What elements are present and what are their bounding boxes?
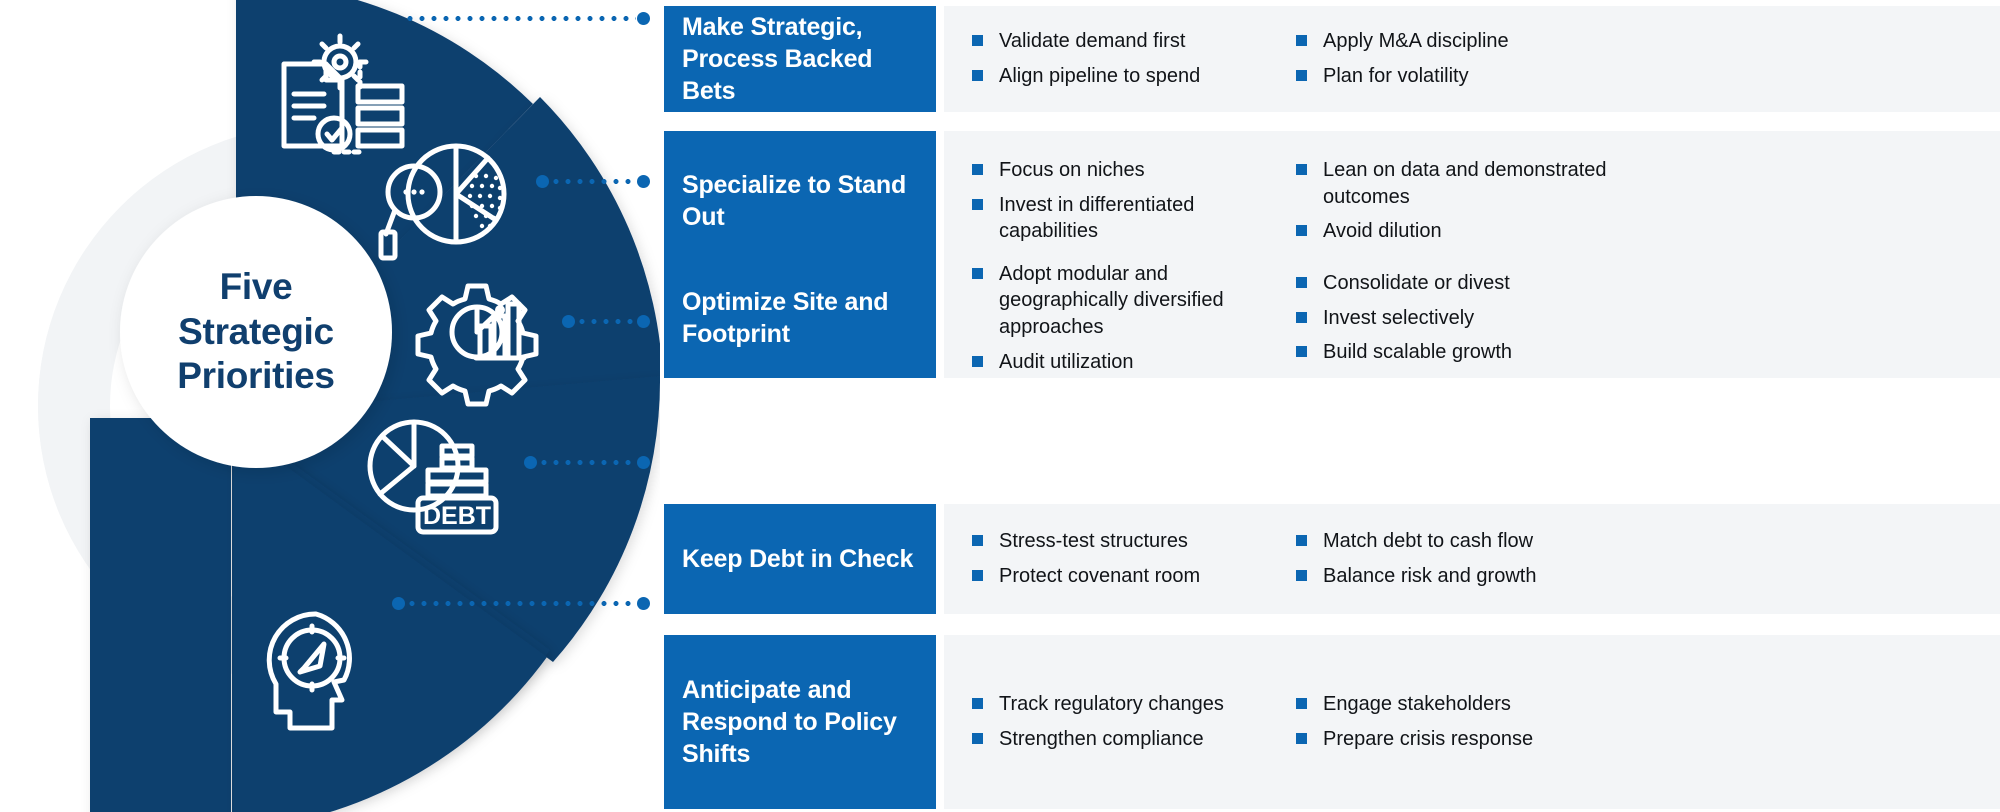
bullet-text: Stress-test structures: [999, 528, 1292, 555]
bullet-text: Plan for volatility: [1323, 63, 1676, 90]
list-item: Avoid dilution: [1296, 218, 1676, 245]
bullet-square-icon: [972, 35, 983, 46]
row-title-1[interactable]: Make Strategic, Process Backed Bets: [664, 6, 936, 112]
connector-line-5: [392, 597, 650, 609]
priority-row-4[interactable]: Keep Debt in Check Stress-test structure…: [664, 504, 2000, 614]
bullet-square-icon: [972, 70, 983, 81]
row-title-3[interactable]: Optimize Site and Footprint: [664, 258, 936, 378]
list-item: Plan for volatility: [1296, 63, 1676, 90]
connector-endcap: [392, 597, 405, 610]
bullet-text: Consolidate or divest: [1323, 270, 1676, 297]
bullet-column-a: Adopt modular and geographically diversi…: [972, 261, 1292, 375]
list-item: Consolidate or divest: [1296, 270, 1676, 297]
list-item: Align pipeline to spend: [972, 63, 1292, 90]
bullet-square-icon: [1296, 312, 1307, 323]
bullet-square-icon: [972, 698, 983, 709]
connector-line-3: [562, 315, 650, 327]
radial-fan-diagram: DEBT Five Strategic Priorities: [0, 0, 660, 812]
list-item: Balance risk and growth: [1296, 563, 1676, 590]
list-item: Validate demand first: [972, 28, 1292, 55]
list-item: Invest in differentiated capabilities: [972, 192, 1292, 245]
priority-row-2[interactable]: Specialize to Stand Out Focus on niches …: [664, 131, 2000, 271]
priority-row-1[interactable]: Make Strategic, Process Backed Bets Vali…: [664, 6, 2000, 112]
connector-line-4: [524, 456, 650, 468]
bullet-square-icon: [972, 570, 983, 581]
bullet-text: Audit utilization: [999, 349, 1292, 376]
svg-text:DEBT: DEBT: [423, 502, 491, 530]
row-body-2: Focus on niches Invest in differentiated…: [944, 131, 2000, 271]
bullet-square-icon: [972, 199, 983, 210]
bullet-square-icon: [1296, 698, 1307, 709]
list-item: Adopt modular and geographically diversi…: [972, 261, 1292, 341]
connector-endcap: [637, 12, 650, 25]
bullet-column-a: Stress-test structures Protect covenant …: [972, 528, 1292, 589]
bullet-square-icon: [1296, 535, 1307, 546]
bullet-column-b: Lean on data and demonstrated outcomes A…: [1296, 157, 1676, 245]
row-body-4: Stress-test structures Protect covenant …: [944, 504, 2000, 614]
connector-dots: [406, 601, 636, 606]
bullet-text: Focus on niches: [999, 157, 1292, 184]
bullet-square-icon: [1296, 570, 1307, 581]
bullet-square-icon: [972, 164, 983, 175]
infographic-canvas: DEBT Five Strategic Priorities: [0, 0, 2000, 812]
list-item: Audit utilization: [972, 349, 1292, 376]
bullet-column-a: Focus on niches Invest in differentiated…: [972, 157, 1292, 245]
list-item: Lean on data and demonstrated outcomes: [1296, 157, 1676, 210]
bullet-square-icon: [1296, 35, 1307, 46]
bullet-column-b: Engage stakeholders Prepare crisis respo…: [1296, 691, 1676, 752]
connector-line-1: [404, 12, 650, 24]
list-item: Focus on niches: [972, 157, 1292, 184]
list-item: Strengthen compliance: [972, 726, 1292, 753]
bullet-column-a: Track regulatory changes Strengthen comp…: [972, 691, 1292, 752]
row-body-3: Adopt modular and geographically diversi…: [944, 258, 2000, 378]
list-item: Prepare crisis response: [1296, 726, 1676, 753]
row-body-1: Validate demand first Align pipeline to …: [944, 6, 2000, 112]
hub-white-disc: [120, 196, 392, 468]
bullet-text: Adopt modular and geographically diversi…: [999, 261, 1292, 341]
list-item: Match debt to cash flow: [1296, 528, 1676, 555]
bullet-text: Balance risk and growth: [1323, 563, 1676, 590]
connector-endcap: [637, 456, 650, 469]
list-item: Build scalable growth: [1296, 339, 1676, 366]
bullet-text: Track regulatory changes: [999, 691, 1292, 718]
bullet-square-icon: [972, 268, 983, 279]
connector-dots: [538, 460, 636, 465]
bullet-text: Protect covenant room: [999, 563, 1292, 590]
connector-endcap: [562, 315, 575, 328]
bullet-text: Invest in differentiated capabilities: [999, 192, 1292, 245]
bullet-square-icon: [1296, 70, 1307, 81]
row-body-5: Track regulatory changes Strengthen comp…: [944, 635, 2000, 809]
priority-row-5[interactable]: Anticipate and Respond to Policy Shifts …: [664, 635, 2000, 809]
bullet-square-icon: [972, 733, 983, 744]
list-item: Apply M&A discipline: [1296, 28, 1676, 55]
list-item: Stress-test structures: [972, 528, 1292, 555]
list-item: Engage stakeholders: [1296, 691, 1676, 718]
bullet-square-icon: [1296, 277, 1307, 288]
list-item: Invest selectively: [1296, 305, 1676, 332]
list-item: Protect covenant room: [972, 563, 1292, 590]
priority-row-3[interactable]: Optimize Site and Footprint Adopt modula…: [664, 258, 2000, 378]
bullet-text: Strengthen compliance: [999, 726, 1292, 753]
bullet-text: Avoid dilution: [1323, 218, 1676, 245]
row-title-2[interactable]: Specialize to Stand Out: [664, 131, 936, 271]
connector-endcap: [637, 597, 650, 610]
bullet-square-icon: [1296, 346, 1307, 357]
bullet-text: Apply M&A discipline: [1323, 28, 1676, 55]
bullet-text: Match debt to cash flow: [1323, 528, 1676, 555]
fan-svg: DEBT: [0, 0, 660, 812]
connector-dots: [550, 179, 636, 184]
connector-endcap: [637, 315, 650, 328]
bullet-column-a: Validate demand first Align pipeline to …: [972, 28, 1292, 89]
bullet-text: Build scalable growth: [1323, 339, 1676, 366]
priority-rows: Make Strategic, Process Backed Bets Vali…: [664, 0, 2000, 812]
bullet-column-b: Apply M&A discipline Plan for volatility: [1296, 28, 1676, 89]
connector-endcap: [524, 456, 537, 469]
bullet-square-icon: [972, 535, 983, 546]
bullet-text: Align pipeline to spend: [999, 63, 1292, 90]
bullet-text: Invest selectively: [1323, 305, 1676, 332]
bullet-column-b: Consolidate or divest Invest selectively…: [1296, 270, 1676, 366]
bullet-square-icon: [1296, 164, 1307, 175]
bullet-square-icon: [1296, 225, 1307, 236]
bullet-square-icon: [1296, 733, 1307, 744]
row-title-5[interactable]: Anticipate and Respond to Policy Shifts: [664, 635, 936, 809]
bullet-text: Prepare crisis response: [1323, 726, 1676, 753]
row-title-4[interactable]: Keep Debt in Check: [664, 504, 936, 614]
bullet-text: Engage stakeholders: [1323, 691, 1676, 718]
connector-endcap: [637, 175, 650, 188]
connector-dots: [576, 319, 636, 324]
bullet-column-b: Match debt to cash flow Balance risk and…: [1296, 528, 1676, 589]
bullet-text: Lean on data and demonstrated outcomes: [1323, 157, 1676, 210]
connector-dots: [404, 16, 636, 21]
connector-line-2: [536, 175, 650, 187]
list-item: Track regulatory changes: [972, 691, 1292, 718]
connector-endcap: [536, 175, 549, 188]
bullet-square-icon: [972, 356, 983, 367]
bullet-text: Validate demand first: [999, 28, 1292, 55]
